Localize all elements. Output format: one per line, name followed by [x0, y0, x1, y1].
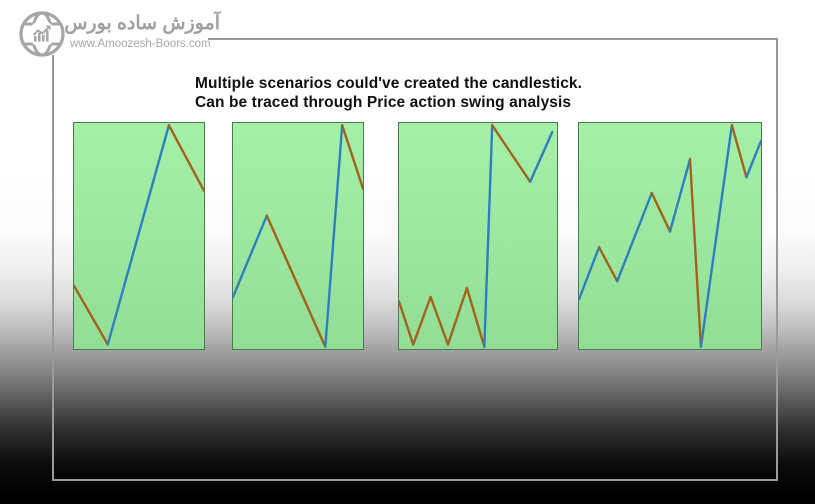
trend-segment-up	[448, 288, 467, 345]
frame-border-bottom	[52, 479, 778, 481]
page-title-line-1: Multiple scenarios could've created the …	[195, 74, 755, 93]
trend-segment-down	[690, 159, 701, 347]
page-title-line-2: Can be traced through Price action swing…	[195, 93, 755, 112]
frame-border-top	[208, 38, 778, 40]
scenario-chart-4	[579, 123, 761, 349]
trend-segment-up	[233, 216, 267, 297]
trend-segment-up	[108, 125, 169, 344]
scenario-panel-3	[398, 122, 558, 350]
trend-segment-down	[267, 216, 326, 347]
trend-segment-up	[484, 125, 492, 346]
trend-segment-up	[701, 125, 732, 346]
trend-segment-down	[599, 247, 617, 281]
trend-segment-down	[652, 193, 670, 231]
slide-canvas: آموزش ساده بورس www.Amoozesh-Boors.com M…	[0, 0, 815, 504]
trend-segment-down	[399, 302, 413, 345]
frame-border-right	[776, 38, 778, 481]
scenario-panel-2	[232, 122, 364, 350]
trend-segment-down	[492, 125, 530, 181]
scenario-panel-4	[578, 122, 762, 350]
trend-segment-up	[579, 247, 599, 299]
trend-segment-down	[467, 288, 484, 347]
trend-segment-down	[169, 125, 204, 191]
scenario-chart-3	[399, 123, 557, 349]
trend-segment-down	[74, 286, 108, 345]
trend-segment-up	[413, 297, 430, 344]
trend-segment-up	[670, 159, 690, 231]
scenario-panel-1	[73, 122, 205, 350]
brand-name-fa: آموزش ساده بورس	[70, 12, 220, 35]
brand-logo: آموزش ساده بورس www.Amoozesh-Boors.com	[18, 8, 218, 60]
trend-segment-up	[617, 193, 652, 281]
trend-segment-down	[342, 125, 363, 188]
scenario-chart-2	[233, 123, 363, 349]
brand-url: www.Amoozesh-Boors.com	[70, 38, 220, 50]
page-title: Multiple scenarios could've created the …	[195, 74, 755, 112]
trend-segment-down	[732, 125, 747, 177]
trend-segment-up	[746, 141, 761, 177]
trend-segment-up	[325, 125, 342, 346]
globe-bar-chart-icon	[18, 10, 66, 58]
scenario-chart-1	[74, 123, 204, 349]
trend-segment-up	[530, 132, 552, 182]
frame-border-left	[52, 55, 54, 481]
trend-segment-down	[431, 297, 448, 344]
